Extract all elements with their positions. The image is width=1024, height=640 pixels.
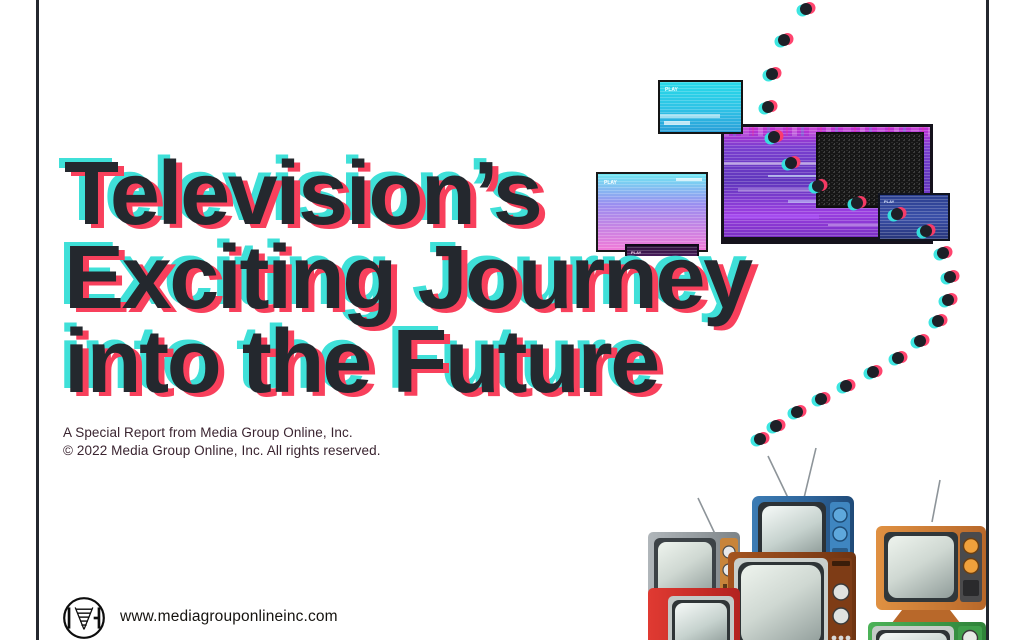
mg-monogram-logo[interactable]: [62, 596, 106, 640]
byline-block: A Special Report from Media Group Online…: [63, 424, 381, 461]
tv-wood-center: [728, 552, 856, 640]
report-cover-page: PLAY PLAY PLAY: [0, 0, 1024, 640]
left-margin-rule: [36, 0, 39, 640]
tv-green: [868, 622, 986, 640]
screen-blue-right: PLAY: [878, 193, 950, 241]
screen-cyan-top: PLAY: [658, 80, 743, 134]
headline-line-3-text: into the Future: [64, 320, 658, 404]
copyright-line: © 2022 Media Group Online, Inc. All righ…: [63, 442, 381, 460]
page-footer: www.mediagrouponlineinc.com: [62, 596, 338, 640]
special-report-line: A Special Report from Media Group Online…: [63, 424, 381, 442]
tv-orange: [876, 526, 986, 628]
headline-line-3: into the Future into the Future into the…: [64, 320, 824, 404]
page-title: Television’s Television’s Television’s E…: [64, 152, 824, 404]
tv-red: [648, 588, 740, 640]
retro-tv-cluster: [640, 440, 1024, 640]
retro-tv-svg: [640, 440, 1024, 640]
website-url[interactable]: www.mediagrouponlineinc.com: [120, 608, 338, 628]
svg-text:PLAY: PLAY: [884, 199, 895, 204]
svg-text:PLAY: PLAY: [665, 87, 679, 93]
